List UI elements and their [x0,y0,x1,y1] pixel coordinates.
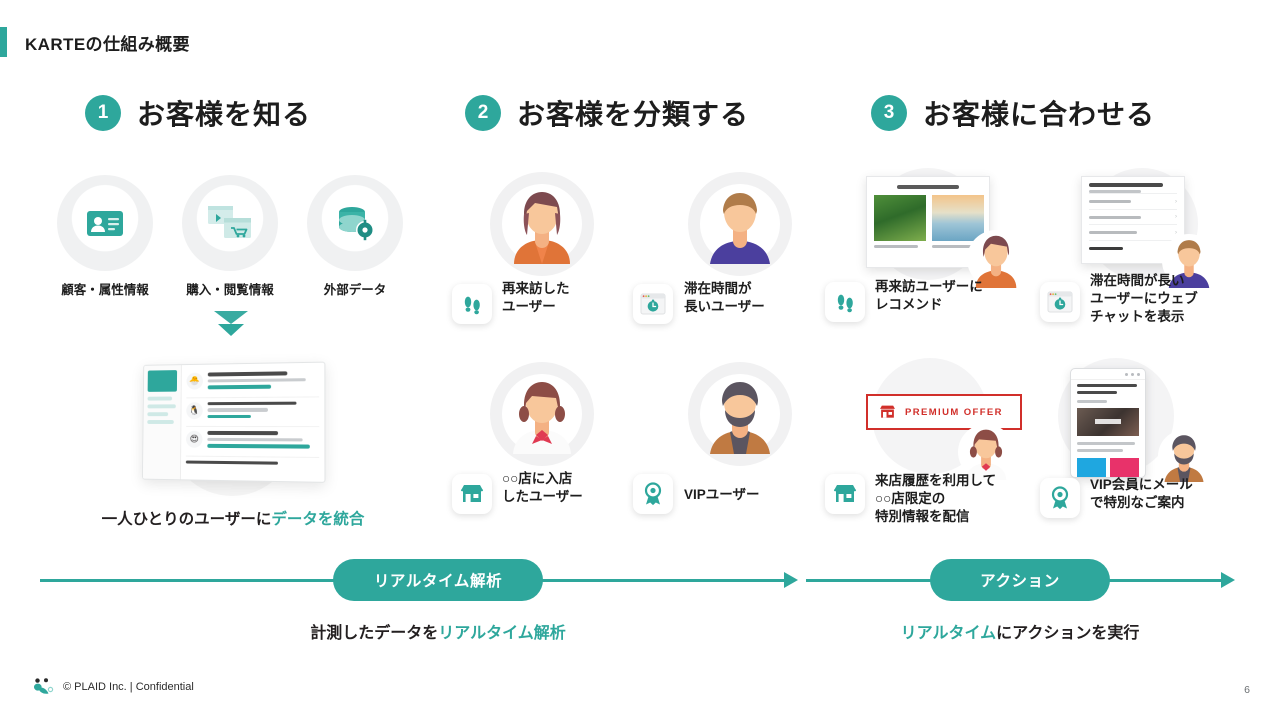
column-header-know: 1 お客様を知る [85,93,311,133]
flow-caption-left: 計測したデータをリアルタイム解析 [238,619,638,643]
flow-caption-right: リアルタイムにアクションを実行 [820,619,1220,643]
avatar: 🐣 [186,373,203,390]
woman-orange-avatar-small [955,218,1013,276]
product-tile-blue [1077,458,1106,478]
stopwatch-browser-icon-tile[interactable] [633,284,673,324]
classify-label-revisit: 再来訪した ユーザー [502,280,570,316]
database-gear-icon [307,175,403,271]
mail-subject-line [1077,391,1117,394]
list-item: 🐧 [186,397,319,427]
store-icon-red [879,404,896,420]
karte-dashboard-mock: 🐣 🐧 😍 [142,362,326,483]
recommendation-item [874,195,926,248]
footer-copyright: © PLAID Inc. | Confidential [63,681,194,693]
mail-hero-tag [1095,419,1121,424]
stopwatch-browser-icon [1047,291,1073,313]
mail-sender-line [1077,400,1107,403]
column-header-classify: 2 お客様を分類する [465,93,749,133]
chat-faq-label [1089,200,1131,203]
list-line [208,408,268,412]
vip-badge-icon [1049,486,1071,510]
column-heading-know: お客様を知る [137,93,311,133]
recommendation-caption [874,245,918,248]
action-label-store-offer: 来店履歴を利用して ○○店限定の 特別情報を配信 [875,472,996,526]
bearded-man-avatar-small [1146,418,1198,470]
phone-mail-mock [1070,368,1146,478]
forest-thumbnail [874,195,926,241]
man-purple-avatar-small [1150,222,1204,276]
plaid-logo-icon [33,678,55,696]
list-item: 😍 [186,427,319,458]
phone-dot-icon [1131,373,1134,376]
man-purple-avatar [688,172,792,276]
action-label-recommend: 再来訪ユーザーに レコメンド [875,278,983,314]
action-label-webchat: 滞在時間が長い ユーザーにウェブ チャットを表示 [1090,272,1198,326]
classify-label-store-visit: ○○店に入店 したユーザー [502,470,583,506]
pill-label: リアルタイム解析 [374,569,502,591]
footprints-icon-tile[interactable] [452,284,492,324]
classify-label-dwell-time: 滞在時間が 長いユーザー [684,280,765,316]
footer: © PLAID Inc. | Confidential [33,678,194,696]
avatar: 🐧 [186,402,203,419]
store-icon-tile[interactable] [452,474,492,514]
list-line [207,444,310,448]
flow-line-right-a [806,579,931,582]
list-line [208,414,252,418]
id-card-icon [57,175,153,271]
list-line [208,378,306,383]
vip-badge-icon-tile[interactable] [633,474,673,514]
step-number-2: 2 [465,95,501,131]
pill-action: アクション [930,559,1110,601]
list-item [186,456,319,473]
chat-card-title [1089,183,1163,187]
pill-label: アクション [980,569,1060,591]
classify-label-vip: VIPユーザー [684,486,760,504]
chat-start-label [1089,247,1123,250]
list-item-text [208,371,320,392]
step-number-3: 3 [871,95,907,131]
mail-body-line [1077,449,1123,452]
column-header-act: 3 お客様に合わせる [871,93,1155,133]
list-item-text [207,431,319,451]
browsing-cart-icon [182,175,278,271]
arrowhead-left-icon [784,572,798,588]
store-icon [460,483,484,505]
woman-uniform-avatar-small [946,412,1002,468]
list-line [208,401,297,405]
flow-line-left [40,579,335,582]
integrate-caption-plain: 一人ひとりのユーザーに [102,511,272,528]
column-heading-act: お客様に合わせる [923,93,1155,133]
footprints-icon [834,291,856,313]
action-label-vip-mail: VIP会員にメール で特別なご案内 [1090,476,1193,512]
flow-caption-right-accent: リアルタイム [901,625,997,642]
stopwatch-browser-icon [640,293,666,315]
recommendation-card-title [897,185,959,189]
chevron-right-icon: › [1175,199,1177,205]
vip-badge-icon [642,482,664,506]
step-number-1: 1 [85,95,121,131]
flow-caption-right-plain: にアクションを実行 [996,625,1139,642]
page-title: KARTEの仕組み概要 [25,30,190,55]
column-heading-classify: お客様を分類する [517,93,749,133]
dashboard-nav-line [147,404,175,408]
store-icon [833,483,857,505]
integrate-caption-accent: データを統合 [271,511,364,528]
woman-orange-avatar [490,172,594,276]
woman-uniform-avatar [490,362,594,466]
dashboard-activity-list: 🐣 🐧 😍 [181,363,325,482]
flow-line-right-b [1108,579,1223,582]
mail-subject-line [1077,384,1137,387]
chat-faq-row[interactable]: › [1089,193,1177,209]
mail-product-tiles [1077,458,1139,478]
list-item-text [207,401,319,421]
source-label: 外部データ [295,279,415,298]
stopwatch-browser-icon-tile-action[interactable] [1040,282,1080,322]
slide-title-bar: KARTEの仕組み概要 [0,27,190,57]
vip-badge-icon-tile-action[interactable] [1040,478,1080,518]
footprints-icon-tile-action[interactable] [825,282,865,322]
title-accent-bar [0,27,7,57]
chevron-right-icon: › [1175,214,1177,220]
flow-line-mid [541,579,786,582]
dashboard-nav-line [147,412,168,416]
dashboard-nav-line [148,397,173,401]
flow-caption-left-plain: 計測したデータを [310,625,438,642]
source-label: 購入・閲覧情報 [170,279,290,298]
dashboard-nav-line [147,420,174,424]
list-line [207,437,303,441]
chat-faq-label [1089,231,1137,234]
product-tile-pink [1110,458,1139,478]
double-down-arrow-icon [210,308,252,347]
list-line [208,371,287,376]
page-number: 6 [1244,684,1250,696]
phone-dot-icon [1125,373,1128,376]
phone-dot-icon [1137,373,1140,376]
list-line [186,460,278,465]
phone-status-bar [1071,369,1145,380]
mail-hero-image [1077,408,1139,436]
dashboard-brand-block [148,370,177,392]
pill-realtime-analysis: リアルタイム解析 [333,559,543,601]
footprints-icon [461,293,483,315]
flow-caption-left-accent: リアルタイム解析 [438,625,566,642]
source-label: 顧客・属性情報 [45,279,165,298]
list-line [207,431,278,435]
arrowhead-right-icon [1221,572,1235,588]
list-item-text [186,460,319,468]
store-icon-tile-action[interactable] [825,474,865,514]
mail-body-line [1077,442,1135,445]
integrate-caption: 一人ひとりのユーザーにデータを統合 [33,507,433,529]
chat-faq-label [1089,216,1141,219]
avatar: 😍 [186,431,203,448]
list-item: 🐣 [186,367,319,398]
dashboard-sidebar [143,365,182,479]
bearded-man-avatar [688,362,792,466]
list-line [208,385,272,389]
